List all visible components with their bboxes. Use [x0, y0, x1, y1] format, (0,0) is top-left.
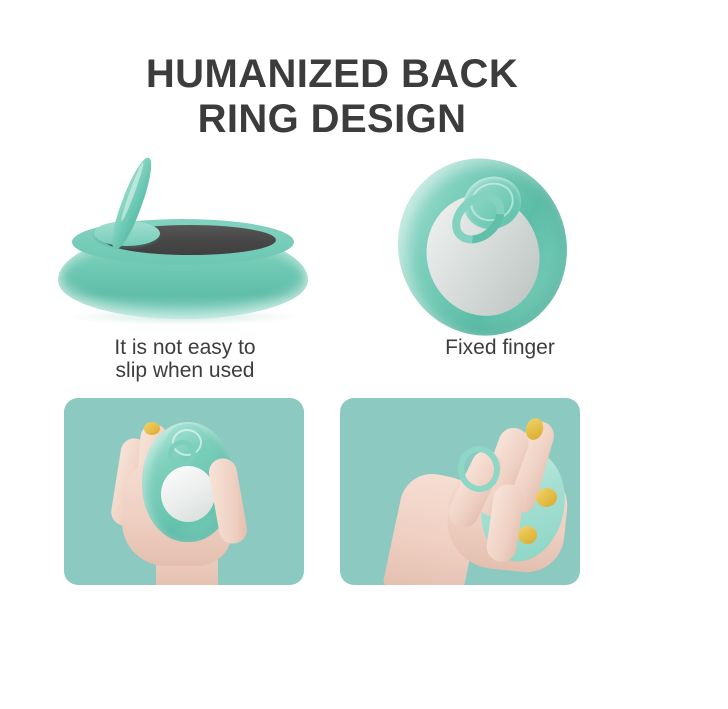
device-back-view	[375, 130, 609, 357]
feature-illustration-row: It is not easy to slip when used Fixed f…	[0, 150, 728, 390]
photo-finger-through-ring	[340, 398, 580, 585]
feature-fixed-finger: Fixed finger	[360, 150, 640, 390]
feature-anti-slip: It is not easy to slip when used	[40, 150, 330, 390]
photo-hand-holding-device	[64, 398, 304, 585]
caption-line-2: slip when used	[40, 359, 330, 382]
feature-caption-fixed-finger: Fixed finger	[360, 336, 640, 359]
fingernail	[144, 422, 160, 435]
page-title: HUMANIZED BACK RING DESIGN	[0, 52, 664, 142]
device-side-view	[58, 205, 308, 323]
device-inner-window	[161, 466, 215, 522]
device-side-view-illustration	[40, 150, 330, 335]
caption-line-1: It is not easy to	[40, 336, 330, 359]
title-line-2: RING DESIGN	[0, 97, 664, 142]
lifestyle-photo-row	[0, 398, 728, 586]
product-infographic: HUMANIZED BACK RING DESIGN It is not eas…	[0, 0, 728, 709]
title-line-1: HUMANIZED BACK	[0, 52, 664, 97]
feature-caption-anti-slip: It is not easy to slip when used	[40, 336, 330, 382]
device-back-view-illustration	[360, 150, 640, 335]
caption-line-1: Fixed finger	[360, 336, 640, 359]
